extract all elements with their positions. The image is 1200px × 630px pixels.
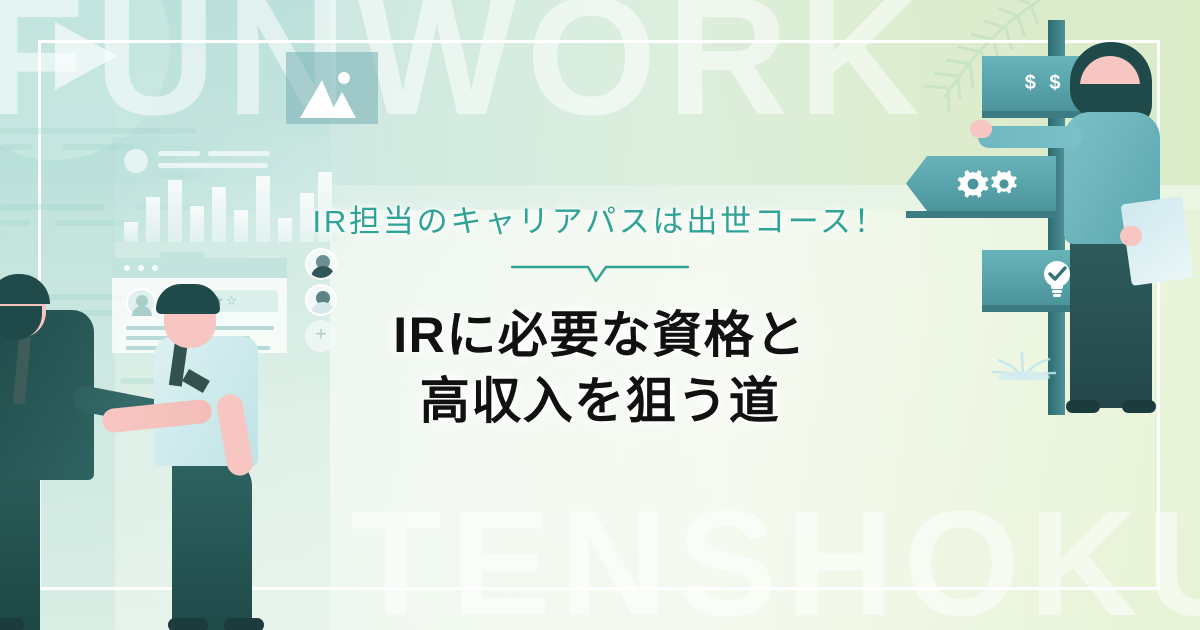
title-line-2: 高収入を狙う道 — [0, 368, 1200, 434]
text-block: IR担当のキャリアパスは出世コース！ IRに必要な資格と 高収入を狙う道 — [0, 196, 1200, 434]
shoe — [168, 618, 208, 630]
divider-ornament-icon — [510, 259, 690, 283]
subtitle: IR担当のキャリアパスは出世コース！ — [0, 196, 1200, 241]
mountain-photo-icon — [286, 52, 378, 124]
businessman-legs — [0, 470, 40, 630]
poster-canvas: FUNWORK TENSHOKU — [0, 0, 1200, 630]
shoe — [0, 618, 24, 630]
title-line-1: IRに必要な資格と — [0, 302, 1200, 368]
dashboard-avatar — [124, 149, 148, 173]
young-man-legs — [172, 458, 252, 630]
page-title: IRに必要な資格と 高収入を狙う道 — [0, 302, 1200, 434]
woman-pointing-arm — [978, 126, 1082, 148]
shoe — [224, 618, 264, 630]
pointing-hand — [970, 120, 992, 138]
